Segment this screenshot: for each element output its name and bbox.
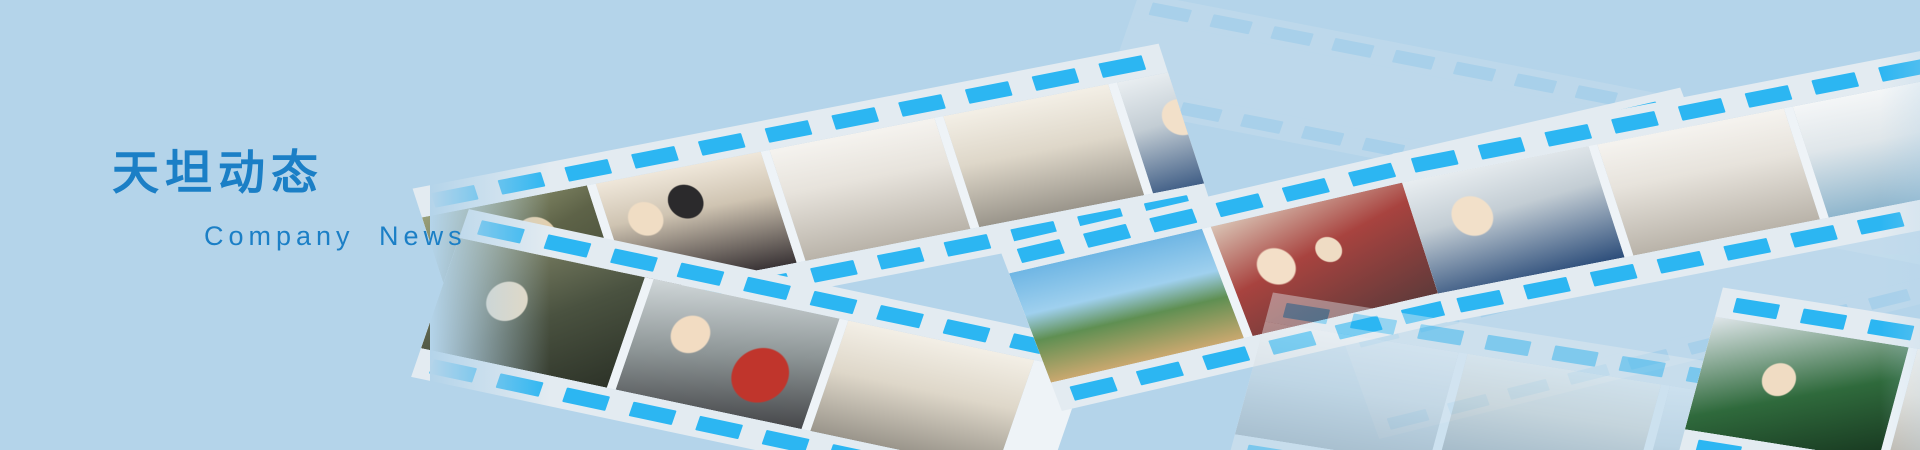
page-subtitle: Company News (204, 221, 467, 252)
banner-heading: 天坦动态 Company News (112, 150, 467, 252)
page-title: 天坦动态 (112, 150, 467, 197)
company-news-banner: 天坦动态 Company News (0, 0, 1920, 450)
